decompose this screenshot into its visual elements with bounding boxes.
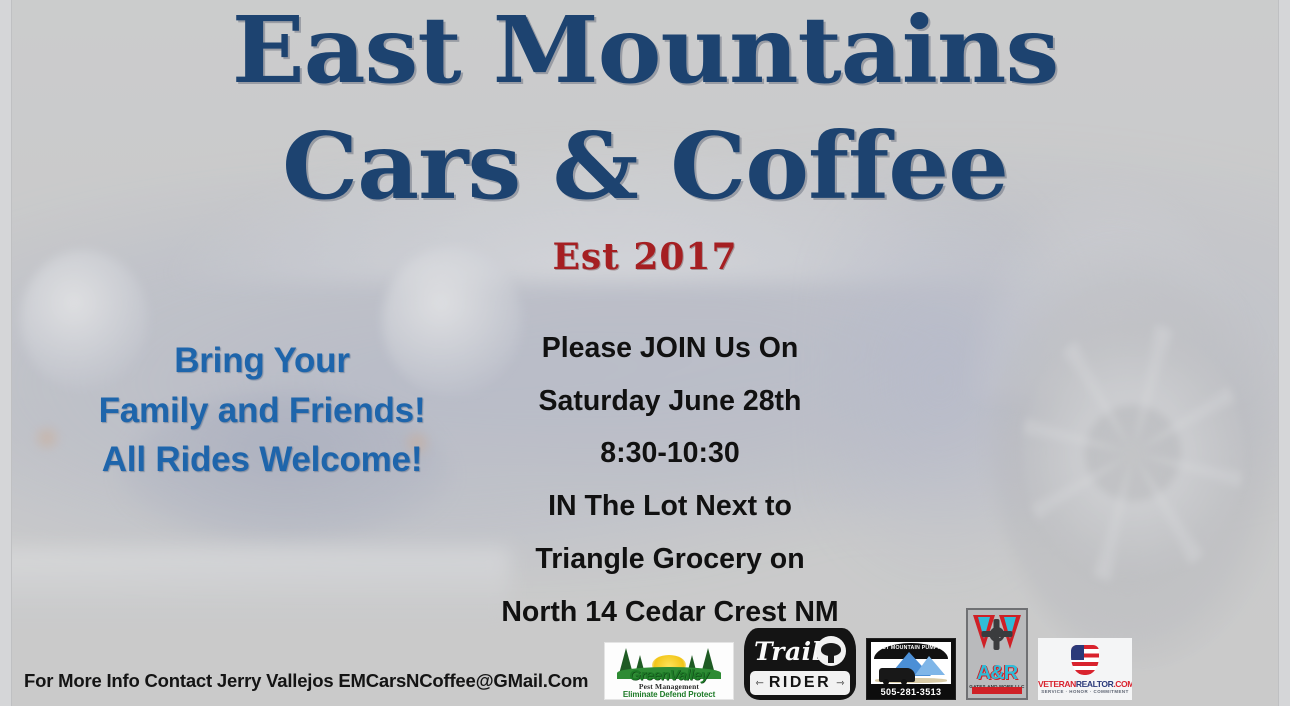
motorcycle-rider-icon [816, 636, 846, 666]
event-flyer: East Mountains Cars & Coffee Est 2017 Br… [0, 0, 1290, 706]
invite-line-2: Family and Friends! [62, 386, 462, 436]
east-mountain-phone: 505-281-3513 [867, 687, 955, 697]
truck-icon [879, 668, 915, 682]
trail-rider-bar: ⇽ RIDER ⇾ [750, 671, 850, 695]
veteran-realtor-part2: REALTOR [1076, 679, 1114, 689]
sponsor-logo-green-valley: GreenValley Pest Management Eliminate De… [604, 642, 734, 700]
sponsor-logo-trail-rider: Trail ⇽ RIDER ⇾ [744, 628, 856, 700]
detail-line-1: Please JOIN Us On [470, 322, 870, 375]
detail-line-2: Saturday June 28th [470, 375, 870, 428]
green-valley-tagline: Eliminate Defend Protect [605, 690, 733, 699]
veteran-realtor-part3: .COM [1113, 679, 1132, 689]
east-mountain-card: EAST MOUNTAIN PUMPING [871, 642, 951, 684]
veteran-realtor-tagline: SERVICE · HONOR · COMMITMENT [1038, 689, 1132, 694]
rider-word: RIDER [769, 674, 831, 692]
zia-sun-icon [993, 630, 1002, 639]
sponsor-logo-row: GreenValley Pest Management Eliminate De… [604, 608, 1132, 700]
veteran-realtor-part1: VETERAN [1038, 679, 1076, 689]
invite-block: Bring Your Family and Friends! All Rides… [62, 336, 462, 485]
a-and-r-red-bar [972, 687, 1022, 694]
event-details-block: Please JOIN Us On Saturday June 28th 8:3… [470, 322, 870, 638]
flyer-content: East Mountains Cars & Coffee Est 2017 Br… [0, 0, 1290, 706]
contact-info: For More Info Contact Jerry Vallejos EMC… [24, 670, 588, 692]
wing-left-icon: ⇽ [755, 678, 763, 689]
page-title-line1: East Mountains [0, 6, 1290, 94]
sponsor-logo-east-mountain-pumping: EAST MOUNTAIN PUMPING 505-281-3513 [866, 638, 956, 700]
us-flag-shield-icon [1071, 645, 1099, 675]
trail-script-text: Trail [754, 637, 822, 666]
invite-line-3: All Rides Welcome! [62, 435, 462, 485]
sponsor-logo-a-and-r: A&R GATES AND MORE LLC [966, 608, 1028, 700]
a-and-r-name: A&R [968, 662, 1026, 685]
page-title-line2: Cars & Coffee [0, 122, 1290, 210]
sponsor-logo-veteran-realtor: VETERANREALTOR.COM SERVICE · HONOR · COM… [1038, 638, 1132, 700]
mountain-small-icon [915, 656, 945, 675]
detail-line-5: Triangle Grocery on [470, 533, 870, 586]
invite-line-1: Bring Your [62, 336, 462, 386]
detail-line-4: IN The Lot Next to [470, 480, 870, 533]
veteran-realtor-name: VETERANREALTOR.COM [1038, 679, 1132, 689]
east-mountain-name: EAST MOUNTAIN PUMPING [874, 645, 948, 651]
established-badge: Est 2017 [0, 236, 1290, 278]
wing-right-icon: ⇾ [836, 678, 844, 689]
detail-line-3: 8:30-10:30 [470, 427, 870, 480]
